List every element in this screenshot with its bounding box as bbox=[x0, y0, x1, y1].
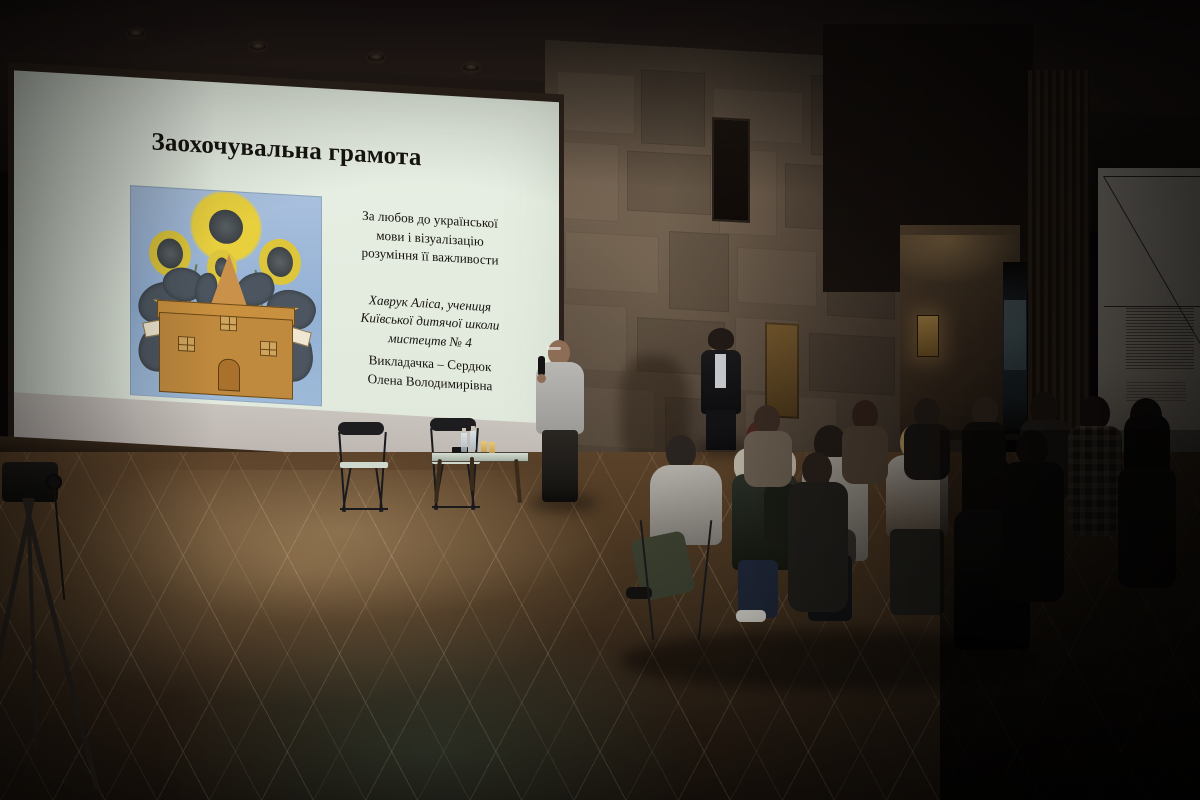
plaid-shirt bbox=[1068, 426, 1122, 536]
doorway-light bbox=[1004, 300, 1026, 370]
church-window-icon bbox=[260, 341, 277, 357]
torso bbox=[744, 431, 792, 487]
audience-shadow bbox=[620, 630, 1040, 690]
slide-title: Заохочувальна грамота bbox=[20, 121, 553, 180]
shoe bbox=[736, 610, 766, 622]
head bbox=[666, 435, 696, 469]
audience-member bbox=[1000, 430, 1070, 610]
photo-scene: Заохочувальна грамота bbox=[0, 0, 1200, 800]
hair bbox=[708, 328, 734, 350]
spotlight-icon bbox=[368, 54, 384, 61]
head bbox=[802, 452, 832, 486]
trousers bbox=[542, 430, 578, 502]
folding-chair-left bbox=[338, 422, 390, 512]
drinking-glass bbox=[489, 442, 495, 453]
tower-window-icon bbox=[220, 315, 237, 331]
speaker-with-microphone bbox=[534, 340, 590, 505]
alcove-lamp-glow bbox=[900, 235, 1020, 285]
slide-attribution-text: Хаврук Аліса, учениця Київської дитячої … bbox=[330, 289, 530, 356]
audience-member bbox=[786, 452, 856, 632]
microphone bbox=[538, 356, 545, 376]
audience-member bbox=[1116, 398, 1180, 598]
slide-artwork-image bbox=[130, 185, 322, 406]
hand bbox=[537, 374, 546, 383]
head bbox=[1080, 396, 1110, 430]
water-bottle bbox=[470, 430, 476, 450]
glasses-icon bbox=[547, 347, 561, 350]
spotlight-icon bbox=[128, 30, 144, 37]
small-framed-icon bbox=[917, 315, 939, 357]
framed-artwork bbox=[712, 117, 750, 223]
torso bbox=[1118, 468, 1176, 588]
slide-body-text: За любов до української мови і візуаліза… bbox=[330, 205, 530, 273]
presentation-slide: Заохочувальна грамота bbox=[20, 75, 553, 420]
torso bbox=[904, 424, 950, 480]
head bbox=[1016, 430, 1048, 466]
exhibition-panel-text bbox=[1126, 308, 1194, 370]
shirt bbox=[715, 354, 726, 388]
church-window-icon bbox=[178, 336, 195, 352]
slide-teacher-text: Викладачка – Сердюк Олена Володимирівна bbox=[330, 349, 530, 398]
spotlight-icon bbox=[463, 64, 479, 71]
church-door-icon bbox=[218, 358, 240, 391]
table-leg bbox=[470, 457, 474, 491]
sunflower-center-icon bbox=[197, 196, 255, 257]
spotlight-icon bbox=[250, 43, 266, 50]
audience-member bbox=[902, 398, 956, 474]
drinking-glass bbox=[481, 441, 487, 452]
speaker-shadow bbox=[528, 495, 598, 511]
audience-chair bbox=[640, 520, 714, 650]
torso bbox=[788, 482, 848, 612]
lower-body bbox=[890, 529, 944, 615]
water-bottle bbox=[461, 432, 467, 452]
torso bbox=[1002, 462, 1064, 602]
